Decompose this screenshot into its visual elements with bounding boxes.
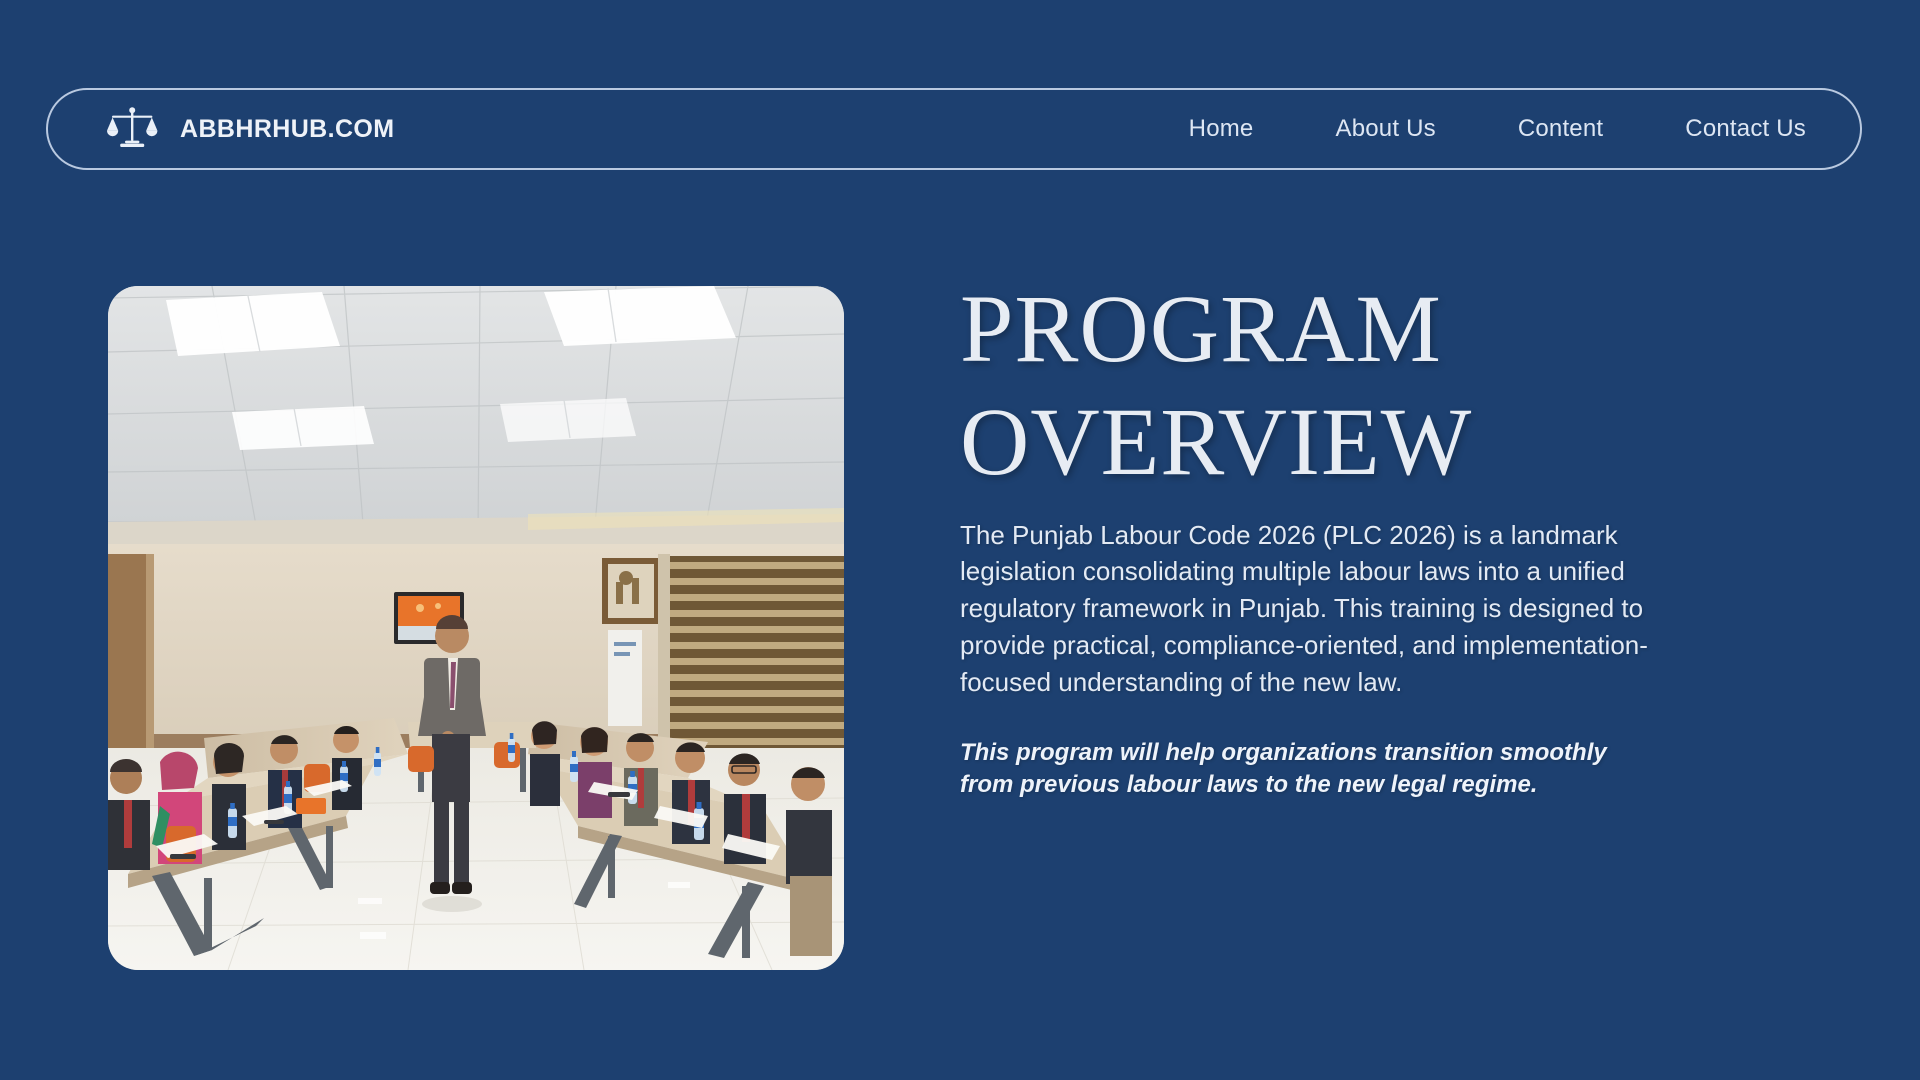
page-root: ABBHRHUB.COM Home About Us Content Conta…	[0, 0, 1920, 1080]
overview-emphasis: This program will help organizations tra…	[960, 737, 1620, 801]
scales-of-justice-icon	[106, 106, 158, 152]
overview-paragraph: The Punjab Labour Code 2026 (PLC 2026) i…	[960, 517, 1672, 702]
nav-link-content[interactable]: Content	[1518, 115, 1603, 143]
nav-link-home[interactable]: Home	[1189, 115, 1254, 143]
nav-link-contact-us[interactable]: Contact Us	[1685, 115, 1806, 143]
brand-name: ABBHRHUB.COM	[180, 115, 395, 144]
page-title-line-1: PROGRAM	[960, 272, 1680, 385]
navigation-bar: ABBHRHUB.COM Home About Us Content Conta…	[46, 88, 1862, 170]
page-title-line-2: OVERVIEW	[960, 385, 1680, 498]
hero-photo	[108, 286, 844, 970]
seminar-room-photo	[108, 286, 844, 970]
page-title: PROGRAM OVERVIEW	[960, 272, 1680, 499]
nav-link-about-us[interactable]: About Us	[1335, 115, 1435, 143]
nav-links: Home About Us Content Contact Us	[1189, 115, 1806, 143]
hero-text-column: PROGRAM OVERVIEW The Punjab Labour Code …	[960, 272, 1680, 801]
brand[interactable]: ABBHRHUB.COM	[106, 106, 395, 152]
